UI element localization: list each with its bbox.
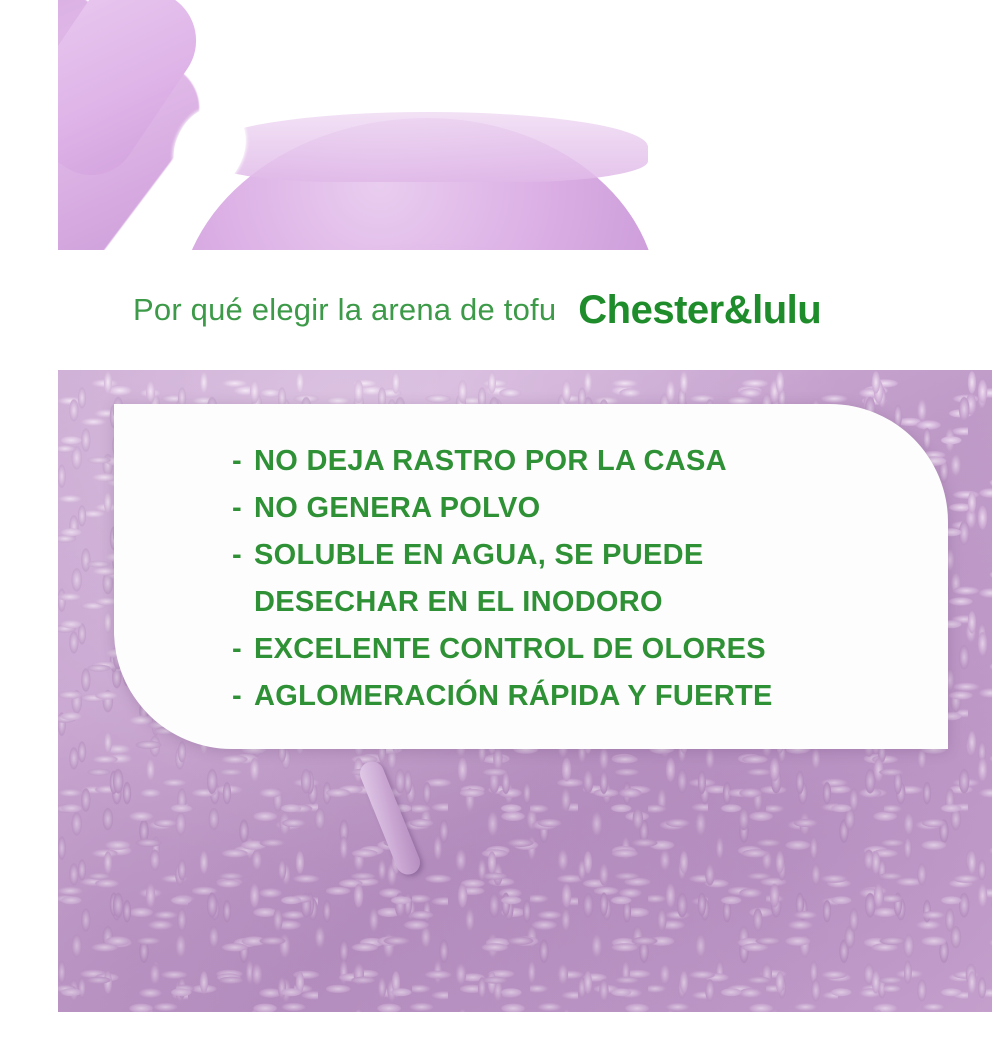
headline-lead-text: Por qué elegir la arena de tofu (133, 292, 556, 328)
top-right-white-area (658, 0, 992, 250)
list-item: - AGLOMERACIÓN RÁPIDA Y FUERTE (232, 673, 948, 720)
bullet-dash: - (232, 673, 254, 720)
bullet-dash: - (232, 438, 254, 485)
list-item: - DESECHAR EN EL INODORO (232, 579, 948, 626)
headline: Por qué elegir la arena de tofu Chester&… (0, 250, 992, 370)
list-item-label: SOLUBLE EN AGUA, SE PUEDE (254, 532, 704, 579)
left-margin (0, 0, 58, 1056)
list-item-label: AGLOMERACIÓN RÁPIDA Y FUERTE (254, 673, 773, 720)
list-item: - NO GENERA POLVO (232, 485, 948, 532)
scoop-bowl-lip-shape (208, 112, 648, 182)
list-item-label: NO GENERA POLVO (254, 485, 540, 532)
feature-card: - NO DEJA RASTRO POR LA CASA - NO GENERA… (114, 404, 948, 749)
bullet-dash: - (232, 485, 254, 532)
list-item-label: NO DEJA RASTRO POR LA CASA (254, 438, 727, 485)
list-item: - NO DEJA RASTRO POR LA CASA (232, 438, 948, 485)
bullet-dash: - (232, 626, 254, 673)
list-item: - SOLUBLE EN AGUA, SE PUEDE (232, 532, 948, 579)
brand-name: Chester&lulu (578, 288, 821, 333)
list-item-label: DESECHAR EN EL INODORO (254, 579, 663, 626)
bullet-dash: - (232, 532, 254, 579)
bottom-margin (0, 1012, 992, 1056)
list-item-label: EXCELENTE CONTROL DE OLORES (254, 626, 766, 673)
feature-list: - NO DEJA RASTRO POR LA CASA - NO GENERA… (232, 438, 948, 720)
list-item: - EXCELENTE CONTROL DE OLORES (232, 626, 948, 673)
poster-root: Por qué elegir la arena de tofu Chester&… (0, 0, 992, 1056)
